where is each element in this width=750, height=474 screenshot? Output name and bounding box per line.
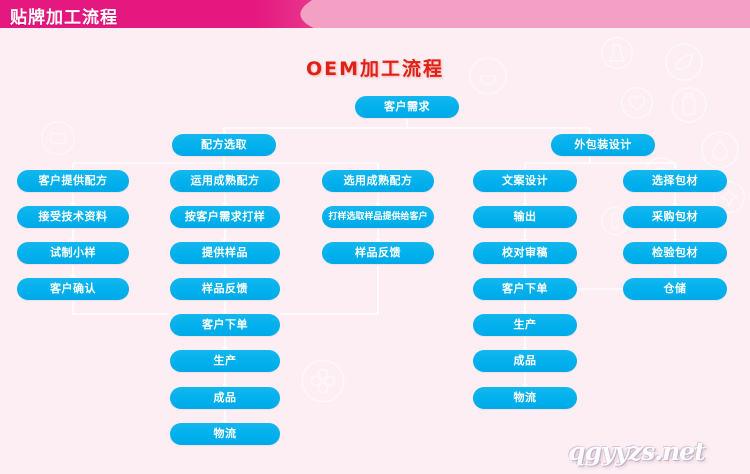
flow-node-column-mature-formula-1[interactable]: 按客户需求打样 [170, 206, 280, 228]
flow-node-column-customer-formula-2[interactable]: 试制小样 [17, 242, 129, 264]
flow-node-column-design-1[interactable]: 输出 [473, 206, 577, 228]
flow-node-column-design-5[interactable]: 成品 [473, 350, 577, 372]
flow-node-column-mature-formula-7[interactable]: 物流 [170, 423, 280, 445]
flow-node-column-select-mature-1[interactable]: 打样选取样品提供给客户 [322, 206, 434, 228]
flow-node-column-mature-formula-2[interactable]: 提供样品 [170, 242, 280, 264]
flow-node-column-mature-formula-4[interactable]: 客户下单 [170, 314, 280, 336]
flow-node-column-design-6[interactable]: 物流 [473, 387, 577, 409]
flow-node-column-customer-formula-3[interactable]: 客户确认 [17, 278, 129, 300]
flow-node-column-packaging-2[interactable]: 检验包材 [623, 242, 727, 264]
flow-node-column-packaging-0[interactable]: 选择包材 [623, 170, 727, 192]
flow-node-column-design-0[interactable]: 文案设计 [473, 170, 577, 192]
flow-node-column-design-4[interactable]: 生产 [473, 314, 577, 336]
watermark: qgyyzs.net [568, 437, 705, 466]
flow-node-column-design-3[interactable]: 客户下单 [473, 278, 577, 300]
flow-node-branch-0[interactable]: 配方选取 [172, 134, 276, 156]
flow-node-column-mature-formula-3[interactable]: 样品反馈 [170, 278, 280, 300]
flow-node-root[interactable]: 客户需求 [355, 96, 459, 118]
flow-connectors [0, 0, 750, 474]
flow-node-column-customer-formula-1[interactable]: 接受技术资料 [17, 206, 129, 228]
flow-node-column-select-mature-2[interactable]: 样品反馈 [322, 242, 434, 264]
flow-node-column-mature-formula-5[interactable]: 生产 [170, 350, 280, 372]
flow-node-column-customer-formula-0[interactable]: 客户提供配方 [17, 170, 129, 192]
flow-node-column-mature-formula-0[interactable]: 运用成熟配方 [170, 170, 280, 192]
flow-node-column-mature-formula-6[interactable]: 成品 [170, 387, 280, 409]
flow-node-column-select-mature-0[interactable]: 选用成熟配方 [322, 170, 434, 192]
flow-node-column-packaging-3[interactable]: 仓储 [623, 278, 727, 300]
flow-node-branch-1[interactable]: 外包装设计 [551, 134, 655, 156]
flow-node-column-design-2[interactable]: 校对审稿 [473, 242, 577, 264]
banner-title: 贴牌加工流程 [10, 3, 118, 28]
flow-node-column-packaging-1[interactable]: 采购包材 [623, 206, 727, 228]
